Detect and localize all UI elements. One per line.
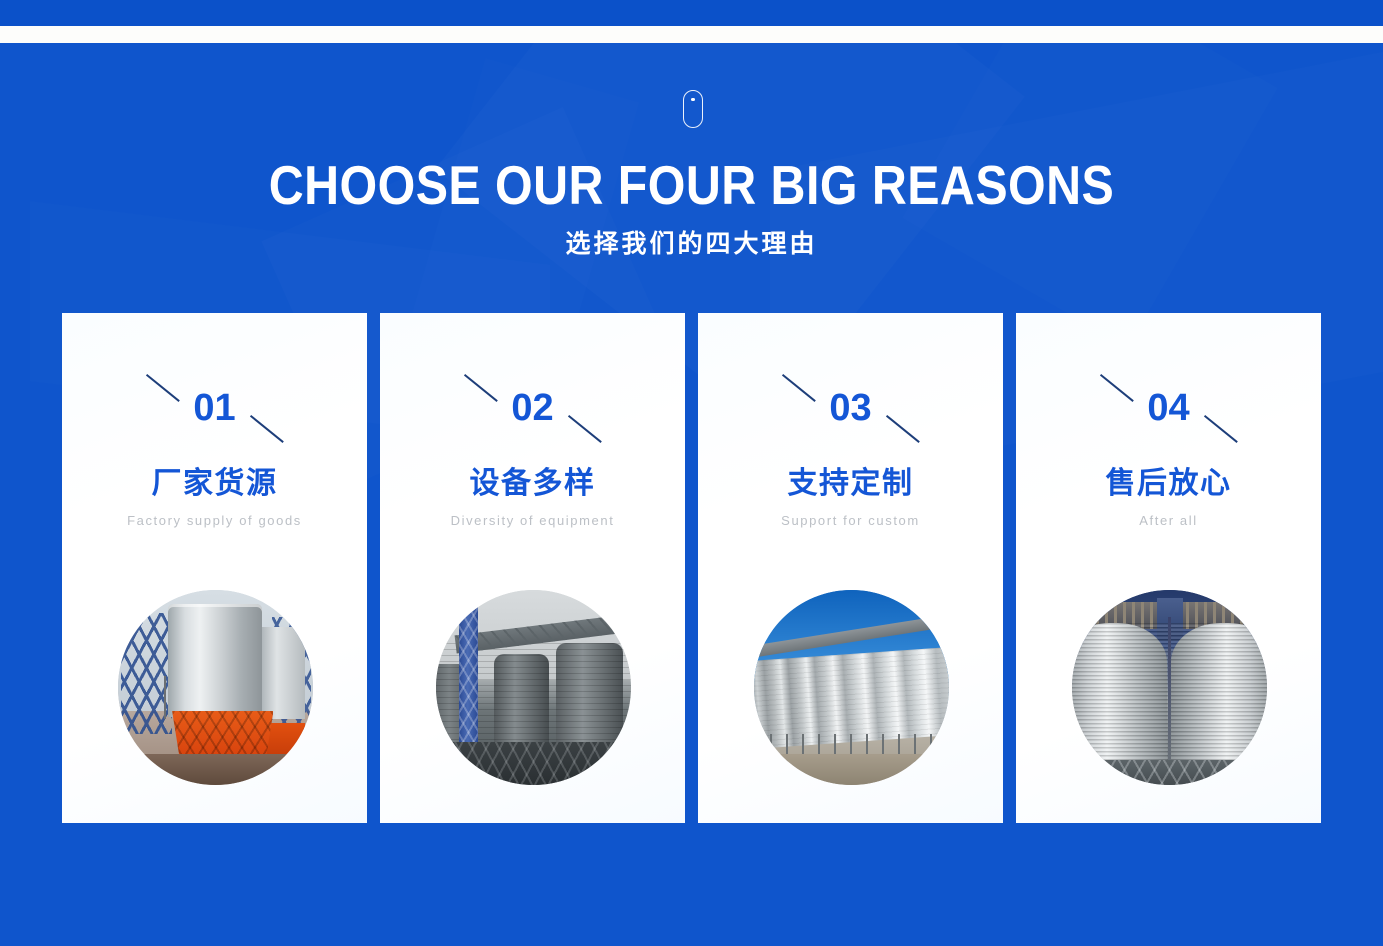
diagonal-accent-icon <box>250 415 284 443</box>
photo-silo-secondary <box>258 627 305 719</box>
mouse-scroll-dot <box>691 98 694 101</box>
photo-ground <box>118 754 313 785</box>
card-number-block: 02 <box>458 373 608 443</box>
photo-illustration <box>118 590 313 785</box>
card-number: 03 <box>829 388 871 428</box>
photo-blue-tower-bracing <box>459 602 479 754</box>
steel-silo-orange-base-photo <box>118 590 313 785</box>
photo-silo-seam <box>1168 617 1171 769</box>
card-number-block: 04 <box>1094 373 1244 443</box>
card-title-cn: 设备多样 <box>470 467 596 501</box>
card-title-cn: 售后放心 <box>1106 467 1232 501</box>
photo-base-bracing <box>1072 760 1267 785</box>
reason-card-04[interactable]: 04 售后放心 After all <box>1016 313 1321 823</box>
card-title-cn: 支持定制 <box>788 467 914 501</box>
photo-illustration <box>436 590 631 785</box>
white-divider-strip <box>0 26 1383 43</box>
card-title-en: Support for custom <box>746 511 956 530</box>
reason-cards-row: 01 厂家货源 Factory supply of goods <box>62 313 1321 823</box>
card-title-cn: 厂家货源 <box>152 467 278 501</box>
mouse-pill-icon <box>683 90 703 128</box>
diagonal-accent-icon <box>568 415 602 443</box>
card-number: 04 <box>1147 388 1189 428</box>
photo-ground <box>754 754 949 785</box>
diagonal-accent-icon <box>464 374 498 402</box>
page-title-cn: 选择我们的四大理由 <box>0 229 1383 259</box>
card-title-en: After all <box>1064 511 1274 530</box>
photo-illustration <box>754 590 949 785</box>
card-title-en: Diversity of equipment <box>428 511 638 530</box>
top-blue-band <box>0 0 1383 26</box>
twin-corrugated-silos-photo <box>1072 590 1267 785</box>
reason-card-03[interactable]: 03 支持定制 Support for custom <box>698 313 1003 823</box>
card-number-block: 03 <box>776 373 926 443</box>
diagonal-accent-icon <box>1204 415 1238 443</box>
card-number-block: 01 <box>140 373 290 443</box>
diagonal-accent-icon <box>782 374 816 402</box>
diagonal-accent-icon <box>1100 374 1134 402</box>
photo-hopper-bracing <box>436 742 631 785</box>
diagonal-accent-icon <box>886 415 920 443</box>
card-title-en: Factory supply of goods <box>110 511 320 530</box>
hopper-silos-conveyor-photo <box>436 590 631 785</box>
section-heading: CHOOSE OUR FOUR BIG REASONS 选择我们的四大理由 <box>0 155 1383 259</box>
promo-page: CHOOSE OUR FOUR BIG REASONS 选择我们的四大理由 01… <box>0 0 1383 946</box>
page-title-en: CHOOSE OUR FOUR BIG REASONS <box>83 155 1300 215</box>
photo-illustration <box>1072 590 1267 785</box>
diagonal-accent-icon <box>146 374 180 402</box>
card-number: 01 <box>193 388 235 428</box>
photo-silo-main <box>168 604 262 717</box>
photo-utility-pole <box>164 676 166 719</box>
card-number: 02 <box>511 388 553 428</box>
silo-row-blue-sky-photo <box>754 590 949 785</box>
reason-card-01[interactable]: 01 厂家货源 Factory supply of goods <box>62 313 367 823</box>
reason-card-02[interactable]: 02 设备多样 Diversity of equipment <box>380 313 685 823</box>
